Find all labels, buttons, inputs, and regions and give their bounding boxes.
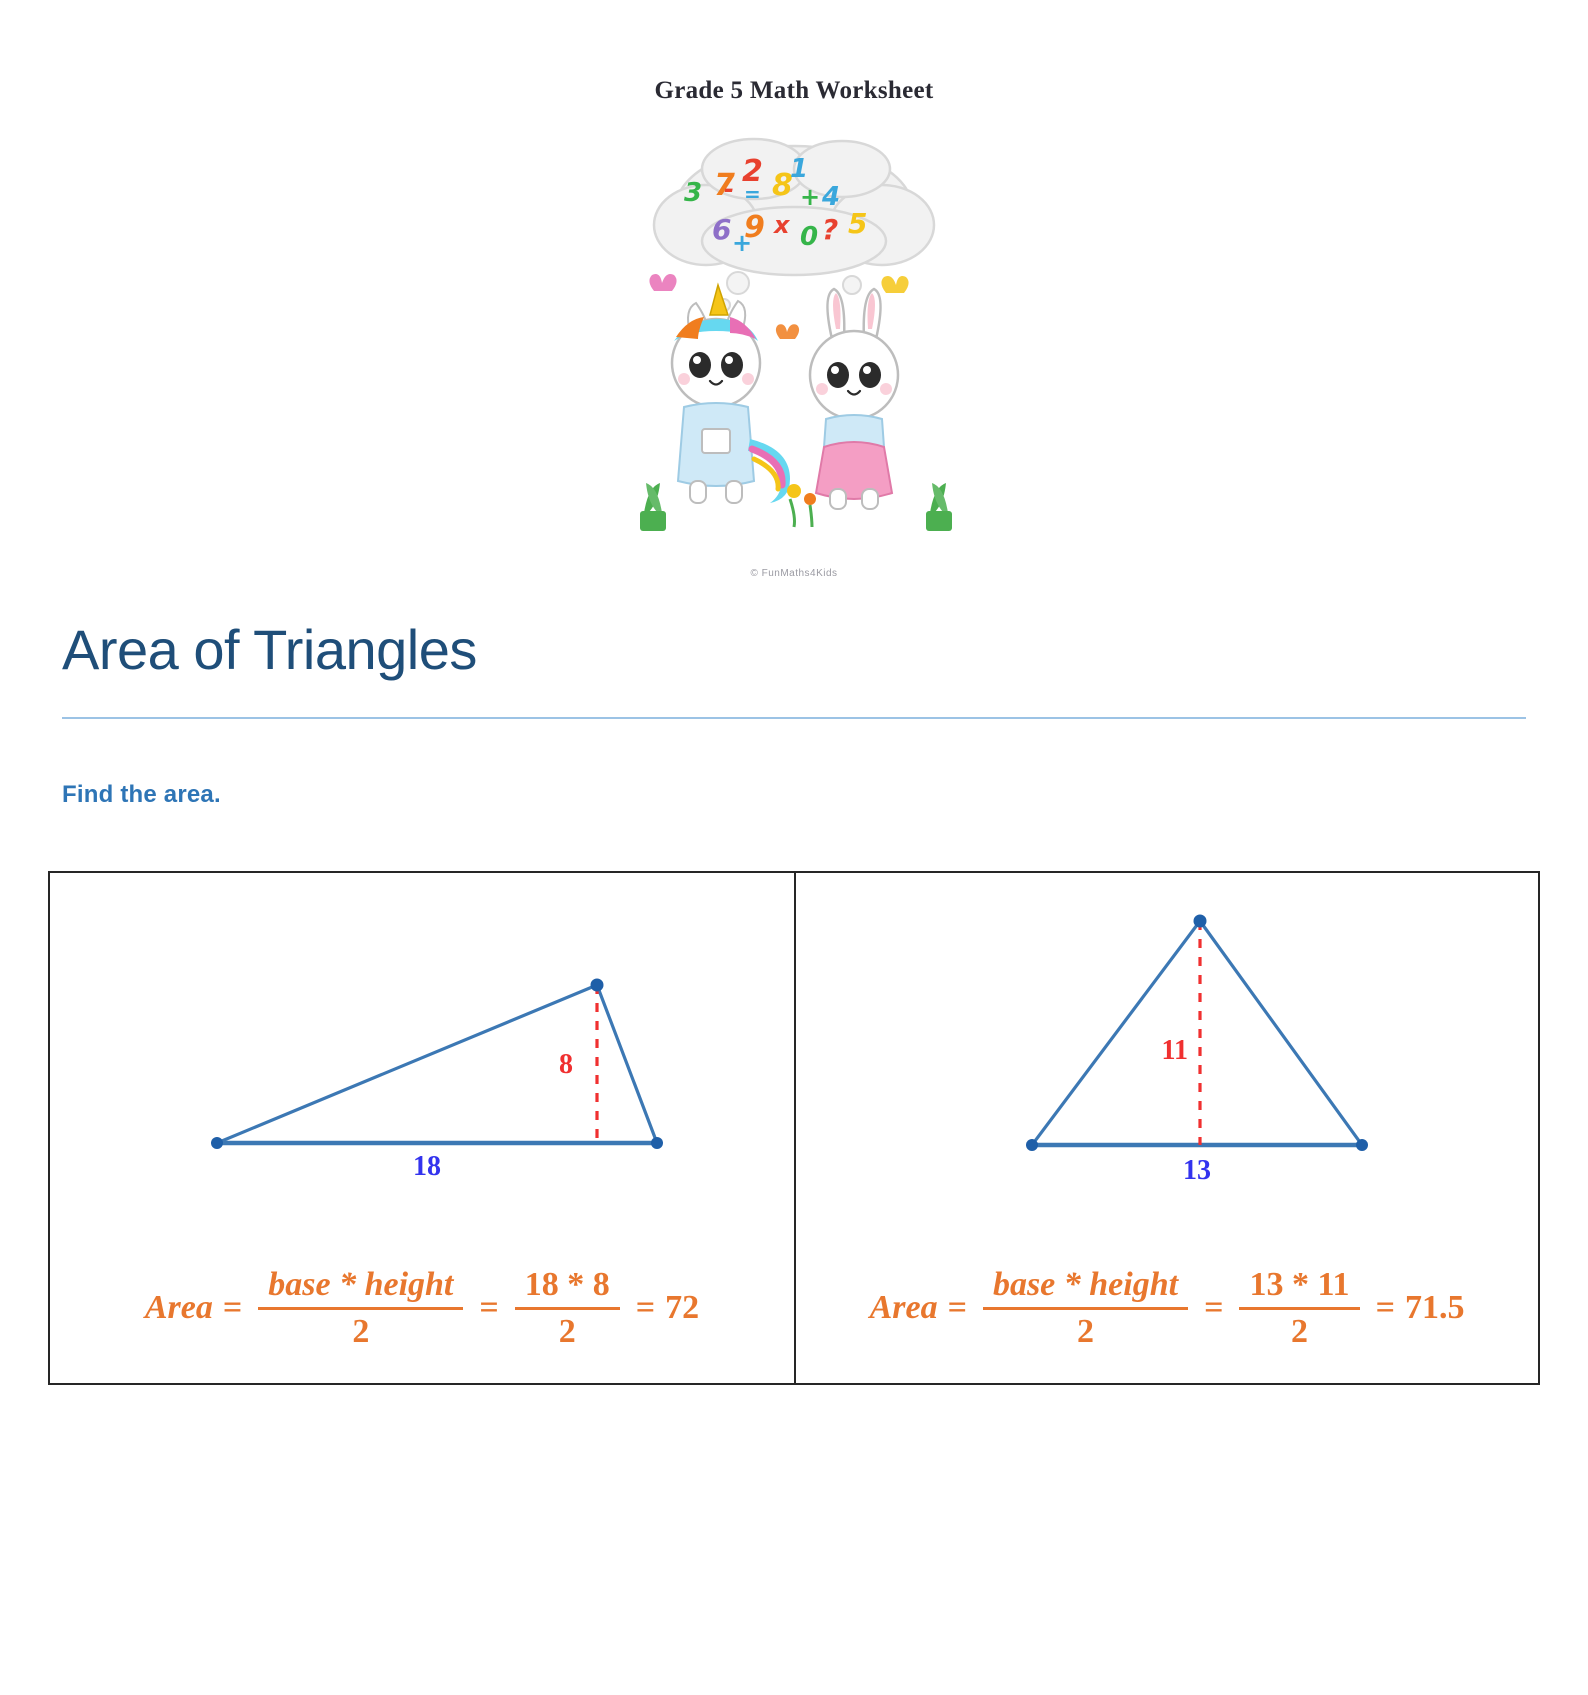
formula-fraction-values-1: 18 * 8 2 (509, 1267, 626, 1349)
numerator-words-2: base * height (983, 1267, 1188, 1307)
worksheet-header-title: Grade 5 Math Worksheet (0, 0, 1588, 103)
equals-sign-1a: = (213, 1289, 252, 1327)
svg-text:+: + (800, 183, 820, 211)
worksheet-page: Grade 5 Math Worksheet 3 (0, 0, 1588, 1695)
numerator-words-1: base * height (258, 1267, 463, 1307)
numerator-values-2: 13 * 11 (1239, 1267, 1359, 1307)
page-title: Area of Triangles (62, 621, 1526, 680)
equals-sign-1b: = (469, 1289, 508, 1327)
svg-text:1: 1 (790, 154, 808, 184)
denominator-2b: 2 (1281, 1310, 1318, 1350)
svg-text:4: 4 (821, 182, 840, 212)
area-result-2: 71.5 (1405, 1289, 1465, 1327)
area-word-2: Area (870, 1289, 938, 1327)
svg-text:x: x (773, 211, 791, 239)
svg-text:0: 0 (800, 222, 818, 252)
base-label-1: 18 (413, 1151, 441, 1182)
denominator-1a: 2 (342, 1310, 379, 1350)
formula-fraction-words-2: base * height 2 (977, 1267, 1194, 1349)
problems-grid: 8 18 Area = base * height 2 = 18 * 8 (48, 871, 1540, 1385)
area-equation-2: Area = base * height 2 = 13 * 11 2 = 71.… (870, 1267, 1465, 1349)
svg-text:+: + (732, 229, 752, 257)
clipart-container: 3 7 2 = 8 1 + 4 6 - 9 x + 0 ? 5 (0, 133, 1588, 583)
formula-fraction-values-2: 13 * 11 2 (1233, 1267, 1365, 1349)
formula-1: Area = base * height 2 = 18 * 8 2 = 72 (50, 1233, 794, 1383)
svg-text:6: 6 (712, 213, 731, 246)
instruction-text: Find the area. (62, 781, 1526, 809)
height-label-1: 8 (559, 1049, 573, 1080)
equals-sign-1c: = (626, 1289, 665, 1327)
title-divider (62, 717, 1526, 719)
formula-fraction-words-1: base * height 2 (252, 1267, 469, 1349)
triangle-figure-2: 11 13 (796, 873, 1538, 1233)
equals-sign-2a: = (938, 1289, 977, 1327)
triangle-figure-1: 8 18 (50, 873, 794, 1233)
base-label-2: 13 (1183, 1155, 1211, 1186)
numerator-values-1: 18 * 8 (515, 1267, 620, 1307)
area-equation-1: Area = base * height 2 = 18 * 8 2 = 72 (145, 1267, 699, 1349)
equals-sign-2b: = (1194, 1289, 1233, 1327)
equals-sign-2c: = (1366, 1289, 1405, 1327)
svg-text:3: 3 (684, 178, 702, 208)
svg-text:5: 5 (848, 207, 867, 240)
svg-text:?: ? (822, 213, 838, 246)
height-label-2: 11 (1162, 1035, 1188, 1066)
worksheet-body: Area of Triangles Find the area. (62, 621, 1526, 809)
formula-2: Area = base * height 2 = 13 * 11 2 = 71.… (796, 1233, 1538, 1383)
svg-text:=: = (744, 182, 761, 206)
area-result-1: 72 (665, 1289, 699, 1327)
problem-cell-2: 11 13 Area = base * height 2 = 13 * 11 (794, 873, 1538, 1383)
denominator-2a: 2 (1067, 1310, 1104, 1350)
problem-cell-1: 8 18 Area = base * height 2 = 18 * 8 (50, 873, 794, 1383)
denominator-1b: 2 (549, 1310, 586, 1350)
clipart-credit: © FunMaths4Kids (614, 568, 974, 579)
math-clipart: 3 7 2 = 8 1 + 4 6 - 9 x + 0 ? 5 (614, 133, 974, 583)
svg-text:-: - (724, 175, 734, 203)
area-word-1: Area (145, 1289, 213, 1327)
